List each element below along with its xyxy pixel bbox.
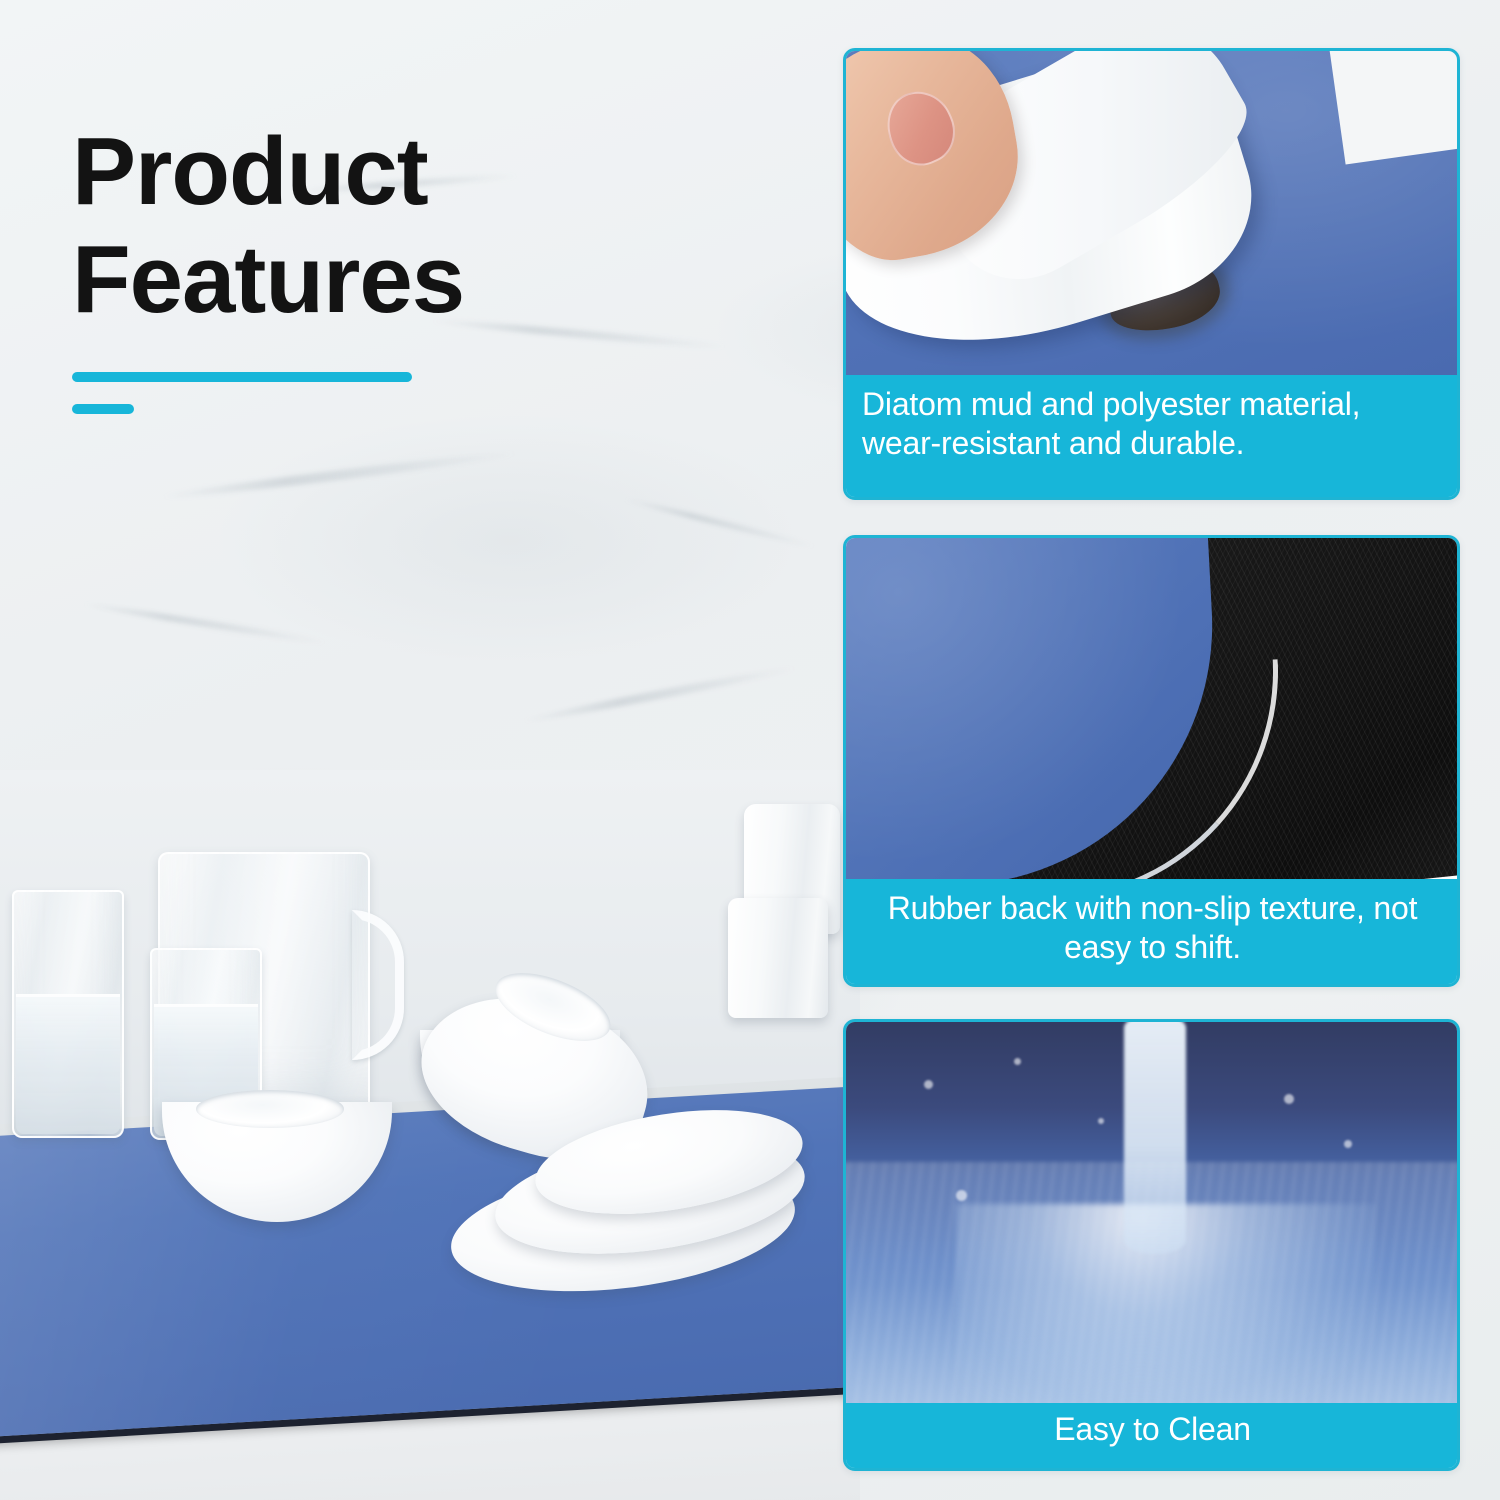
title-underline-short — [72, 404, 134, 414]
water-droplet — [1098, 1118, 1104, 1124]
feature-caption-easy-to-clean: Easy to Clean — [846, 1403, 1457, 1468]
page-title: Product Features — [72, 118, 712, 333]
water-droplet — [956, 1190, 967, 1201]
fluted-cup-lower — [728, 898, 828, 1018]
water-droplet — [1014, 1058, 1021, 1065]
feature-image-easy-to-clean — [846, 1022, 1457, 1409]
feature-card-non-slip-back[interactable]: Rubber back with non-slip texture, not e… — [843, 535, 1460, 987]
infographic-root: Product Features — [0, 0, 1500, 1500]
marble-vein — [161, 448, 520, 502]
bowl-rim — [196, 1090, 344, 1128]
feature-card-easy-to-clean[interactable]: Easy to Clean — [843, 1019, 1460, 1471]
marble-vein — [522, 663, 799, 725]
marble-vein — [81, 600, 329, 646]
page-title-line-1: Product — [72, 118, 712, 226]
hero-product-photo — [0, 770, 860, 1500]
water-glass-left — [12, 890, 124, 1138]
feature-card-material[interactable]: Diatom mud and polyester material, wear-… — [843, 48, 1460, 500]
title-underline-long — [72, 372, 412, 382]
feature-image-material — [846, 51, 1457, 381]
marble-vein — [622, 496, 818, 550]
water-stream — [1124, 1022, 1186, 1254]
feature-caption-material: Diatom mud and polyester material, wear-… — [846, 375, 1457, 497]
water-droplet — [924, 1080, 933, 1089]
thumbnail — [875, 81, 965, 175]
water-droplet — [1284, 1094, 1294, 1104]
water-level — [16, 994, 120, 1134]
page-title-line-2: Features — [72, 226, 712, 334]
feature-image-non-slip-back — [846, 538, 1457, 885]
water-droplet — [1344, 1140, 1352, 1148]
feature-caption-non-slip-back: Rubber back with non-slip texture, not e… — [846, 879, 1457, 984]
background-corner — [1330, 51, 1457, 164]
